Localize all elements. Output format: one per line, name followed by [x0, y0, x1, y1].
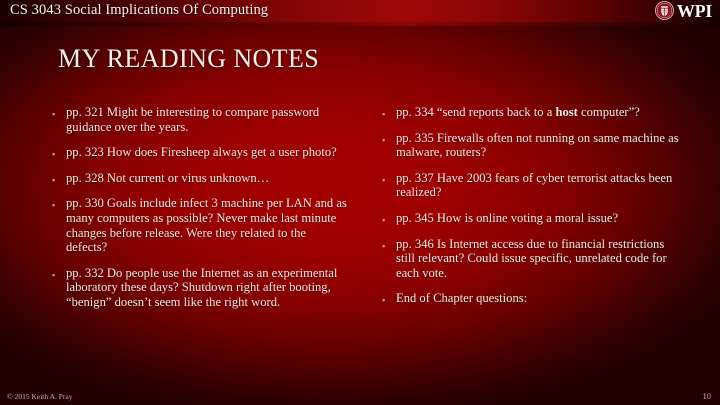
bullet-item: pp. 337 Have 2003 fears of cyber terrori… [382, 171, 682, 200]
bullet-marker-icon [382, 105, 396, 119]
bullet-item: pp. 334 “send reports back to a host com… [382, 105, 682, 120]
bullet-marker-icon [52, 171, 66, 185]
bullet-item: pp. 345 How is online voting a moral iss… [382, 211, 682, 226]
bullet-item: pp. 321 Might be interesting to compare … [52, 105, 348, 134]
bullet-marker-icon [382, 211, 396, 225]
course-title: CS 3043 Social Implications Of Computing [10, 2, 268, 19]
bullet-text: pp. 330 Goals include infect 3 machine p… [66, 196, 348, 254]
bullet-item: pp. 332 Do people use the Internet as an… [52, 266, 348, 310]
bullet-text: pp. 335 Firewalls often not running on s… [396, 131, 682, 160]
bullet-text: pp. 321 Might be interesting to compare … [66, 105, 348, 134]
bullet-item: pp. 346 Is Internet access due to financ… [382, 237, 682, 281]
slide-page-number: 10 [703, 392, 712, 401]
bullet-item: pp. 335 Firewalls often not running on s… [382, 131, 682, 160]
bullet-text: pp. 332 Do people use the Internet as an… [66, 266, 348, 310]
bullet-marker-icon [382, 237, 396, 251]
wpi-wordmark: WPI [677, 2, 712, 20]
bullet-text: End of Chapter questions: [396, 291, 682, 306]
bullet-column-right: pp. 334 “send reports back to a host com… [360, 105, 720, 380]
bullet-text: pp. 323 How does Firesheep always get a … [66, 145, 348, 160]
wpi-logo: WPI [655, 1, 712, 20]
presentation-slide: CS 3043 Social Implications Of Computing… [0, 0, 720, 405]
wpi-seal-icon [655, 1, 674, 20]
slide-title: MY READING NOTES [58, 44, 319, 74]
bullet-marker-icon [52, 266, 66, 280]
bullet-item: pp. 330 Goals include infect 3 machine p… [52, 196, 348, 254]
bullet-marker-icon [52, 105, 66, 119]
bullet-text: pp. 334 “send reports back to a host com… [396, 105, 682, 120]
bullet-marker-icon [382, 171, 396, 185]
bullet-marker-icon [382, 291, 396, 305]
slide-body: pp. 321 Might be interesting to compare … [0, 105, 720, 380]
bullet-text: pp. 328 Not current or virus unknown… [66, 171, 348, 186]
bullet-item: pp. 323 How does Firesheep always get a … [52, 145, 348, 160]
bullet-item: End of Chapter questions: [382, 291, 682, 306]
bullet-column-left: pp. 321 Might be interesting to compare … [0, 105, 360, 380]
copyright-notice: © 2015 Keith A. Pray [7, 392, 73, 401]
header-underline-divider [0, 22, 720, 26]
bullet-marker-icon [52, 145, 66, 159]
bullet-text: pp. 346 Is Internet access due to financ… [396, 237, 682, 281]
bullet-text: pp. 345 How is online voting a moral iss… [396, 211, 682, 226]
bullet-marker-icon [52, 196, 66, 210]
bullet-text: pp. 337 Have 2003 fears of cyber terrori… [396, 171, 682, 200]
bullet-marker-icon [382, 131, 396, 145]
bullet-item: pp. 328 Not current or virus unknown… [52, 171, 348, 186]
